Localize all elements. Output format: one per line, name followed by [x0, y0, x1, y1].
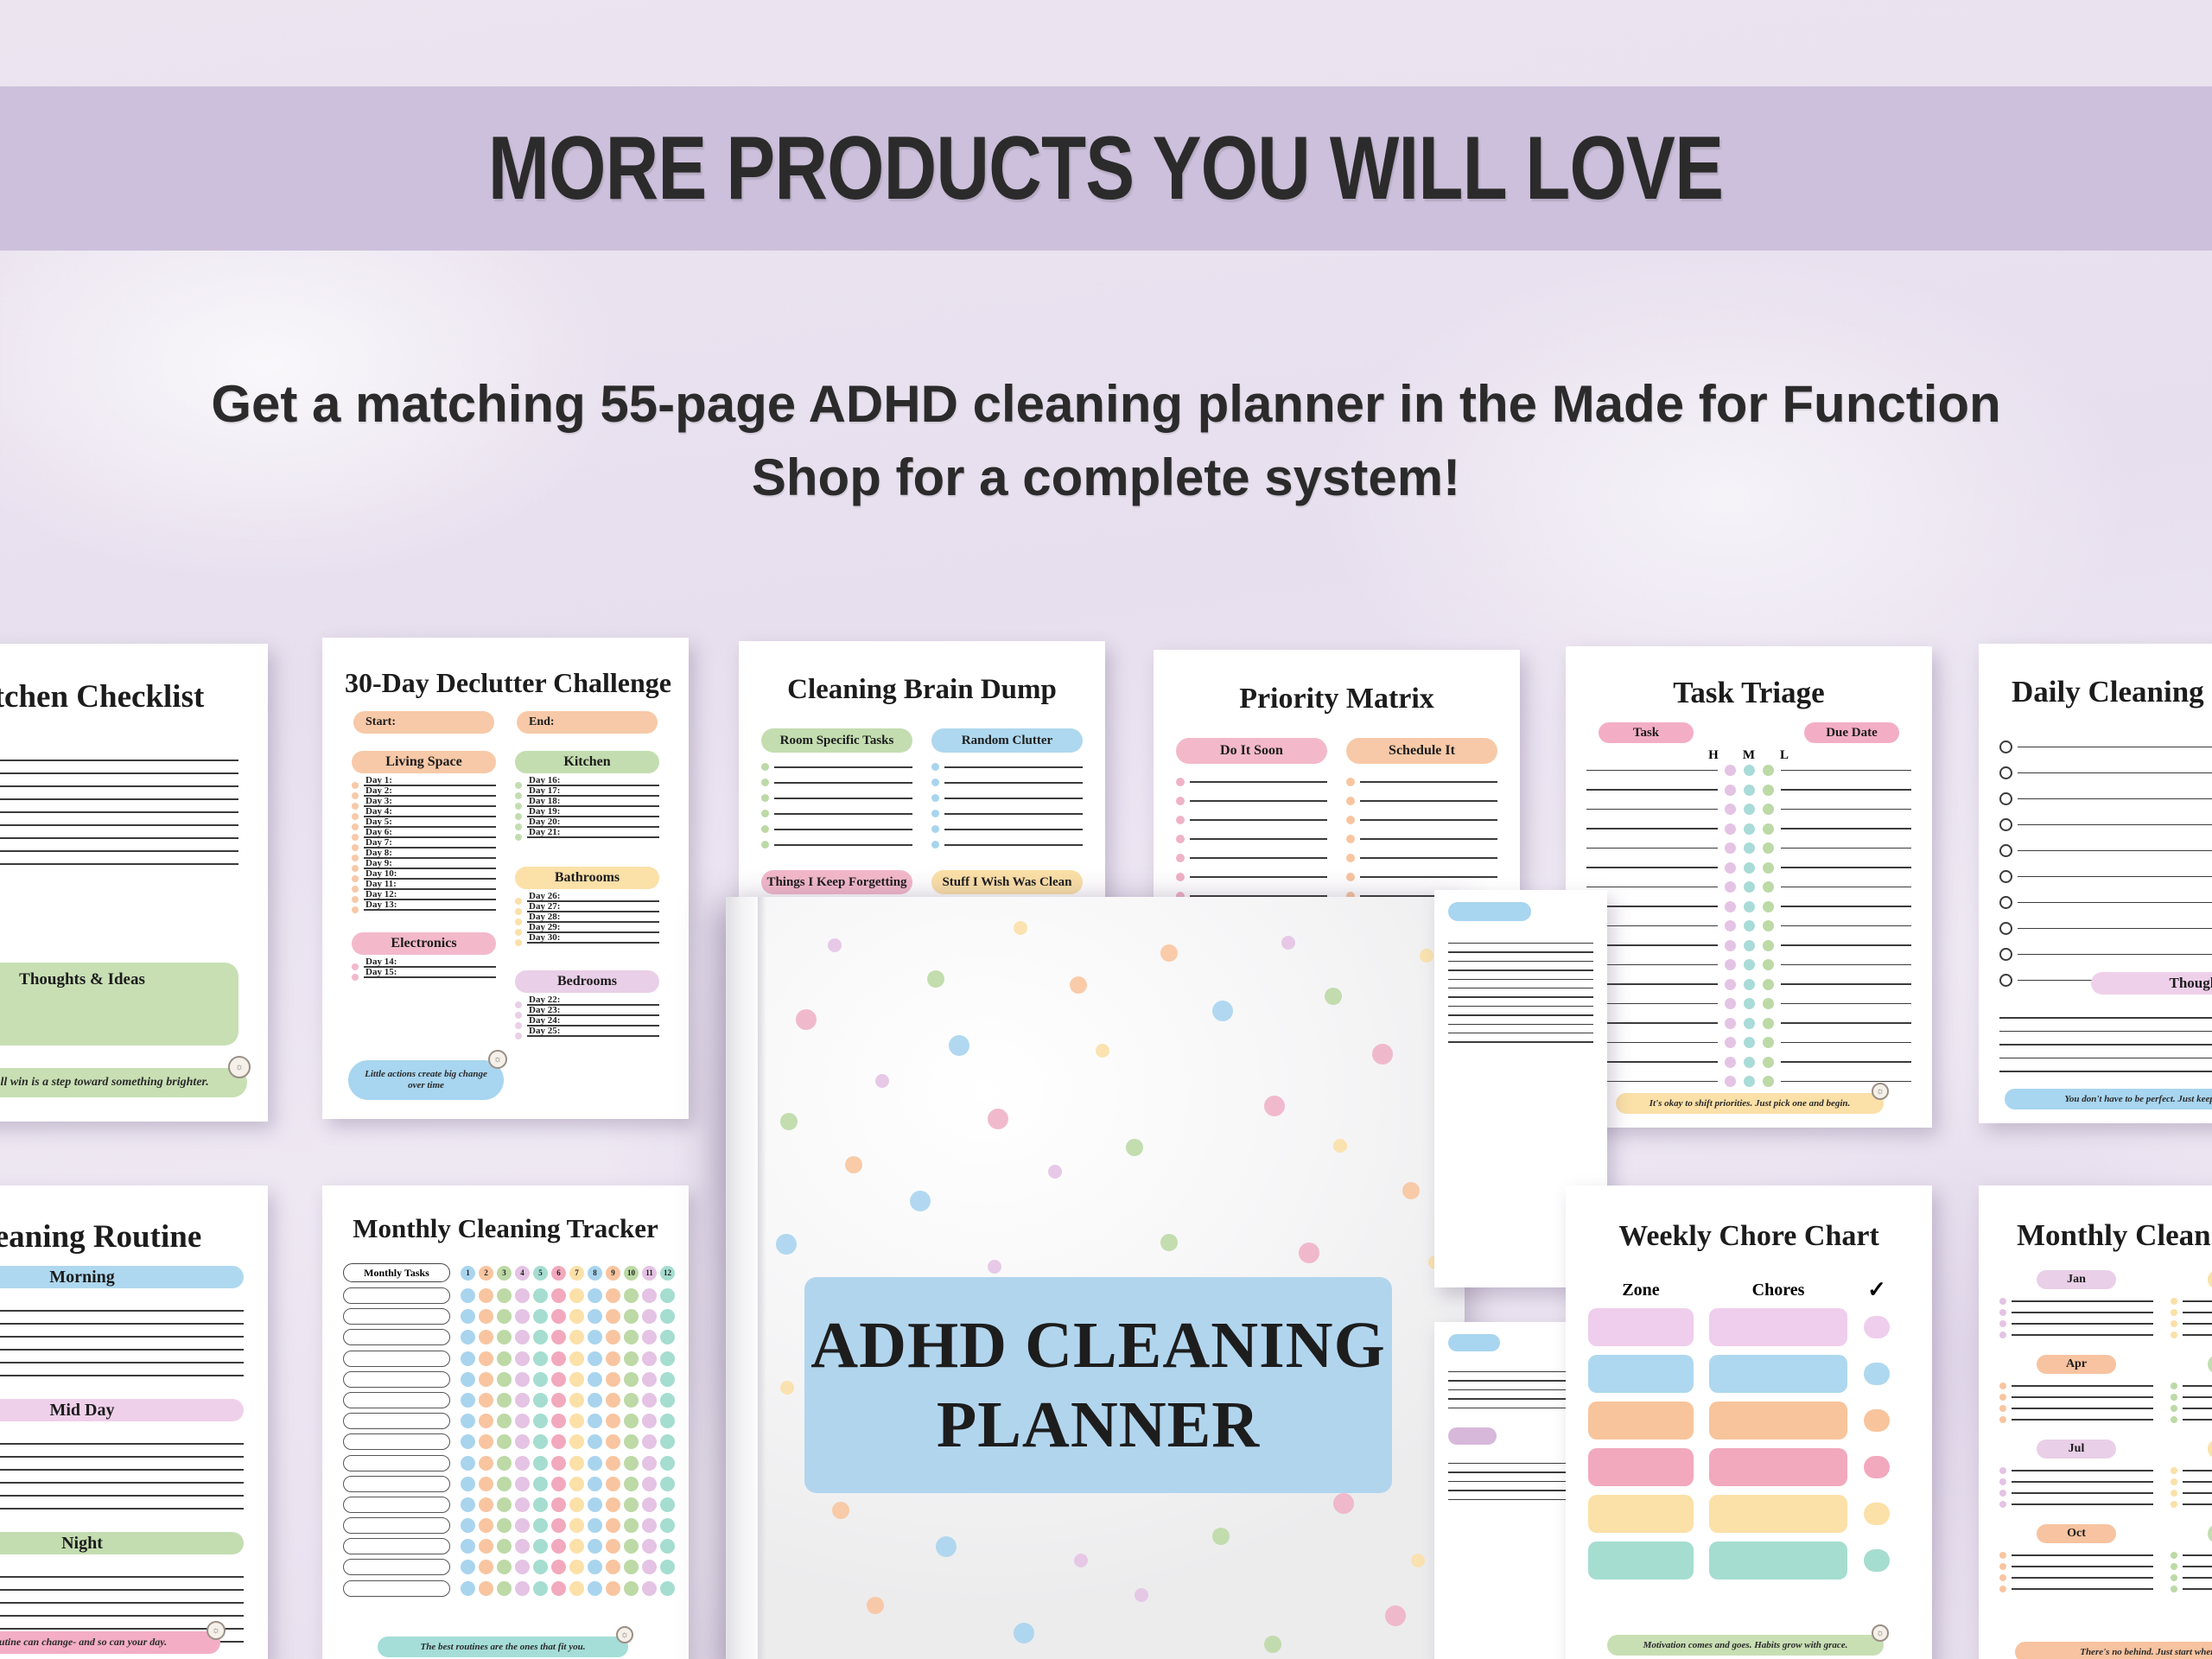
bullet-dot[interactable] — [1999, 1394, 2006, 1401]
bullet-dot[interactable] — [660, 1351, 675, 1366]
bullet-dot[interactable] — [642, 1581, 657, 1596]
bullet-dot[interactable] — [1725, 940, 1736, 951]
bullet-dot[interactable] — [660, 1518, 675, 1533]
declutter-start-pill[interactable]: Start: — [353, 711, 494, 734]
write-line[interactable] — [944, 813, 1083, 815]
bullet-dot[interactable] — [624, 1351, 639, 1366]
bullet-dot[interactable] — [2171, 1563, 2177, 1570]
task-input-pill[interactable] — [343, 1351, 450, 1367]
write-line[interactable] — [2183, 1492, 2212, 1493]
bullet-dot[interactable] — [352, 963, 359, 970]
task-triage-row[interactable] — [1586, 959, 1911, 970]
write-line[interactable] — [774, 813, 912, 815]
bullet-dot[interactable] — [461, 1393, 475, 1408]
write-line[interactable] — [2012, 1385, 2153, 1386]
bullet-dot[interactable] — [1744, 940, 1755, 951]
monthly-tracker-row[interactable] — [343, 1476, 668, 1492]
bullet-dot[interactable] — [569, 1414, 584, 1428]
chores-cell[interactable] — [1709, 1448, 1847, 1486]
write-line[interactable] — [1360, 876, 1497, 878]
bullet-dot[interactable] — [515, 1330, 530, 1344]
bullet-dot[interactable] — [551, 1372, 566, 1387]
bullet-dot[interactable] — [1999, 1382, 2006, 1389]
bullet-dot[interactable] — [624, 1477, 639, 1491]
bullet-dot[interactable] — [1744, 804, 1755, 815]
write-line[interactable] — [774, 844, 912, 846]
bullet-dot[interactable] — [642, 1288, 657, 1303]
bullet-dot[interactable] — [660, 1414, 675, 1428]
write-line[interactable] — [2183, 1323, 2212, 1324]
bullet-dot[interactable] — [1999, 1586, 2006, 1592]
write-line[interactable] — [1360, 819, 1497, 821]
bullet-dot[interactable] — [588, 1539, 602, 1554]
write-line[interactable] — [2012, 1554, 2153, 1555]
task-triage-row[interactable] — [1586, 765, 1911, 776]
bullet-dot[interactable] — [624, 1434, 639, 1449]
write-line[interactable] — [2012, 1566, 2153, 1567]
bullet-dot[interactable] — [761, 779, 769, 786]
chore-row[interactable] — [1588, 1541, 1910, 1580]
bullet-dot[interactable] — [479, 1518, 493, 1533]
bullet-dot[interactable] — [479, 1434, 493, 1449]
bullet-dot[interactable] — [1725, 1018, 1736, 1029]
bullet-dot[interactable] — [515, 1033, 522, 1039]
bullet-dot[interactable] — [1176, 797, 1185, 805]
bullet-dot[interactable] — [624, 1497, 639, 1512]
write-line[interactable] — [2183, 1408, 2212, 1408]
bullet-dot[interactable] — [515, 939, 522, 946]
bullet-dot[interactable] — [461, 1581, 475, 1596]
write-line[interactable] — [2183, 1481, 2212, 1482]
bullet-dot[interactable] — [497, 1288, 512, 1303]
task-triage-row[interactable] — [1586, 998, 1911, 1009]
bullet-dot[interactable] — [1999, 1490, 2006, 1497]
bullet-dot[interactable] — [642, 1309, 657, 1324]
write-line[interactable] — [1360, 781, 1497, 783]
bullet-dot[interactable] — [1725, 1057, 1736, 1068]
bullet-dot[interactable] — [1999, 1309, 2006, 1316]
bullet-dot[interactable] — [1346, 854, 1355, 862]
bullet-dot[interactable] — [588, 1288, 602, 1303]
bullet-dot[interactable] — [2171, 1574, 2177, 1581]
task-input-pill[interactable] — [343, 1476, 450, 1492]
bullet-dot[interactable] — [761, 841, 769, 849]
bullet-dot[interactable] — [642, 1393, 657, 1408]
task-triage-row[interactable] — [1586, 842, 1911, 854]
task-triage-row[interactable] — [1586, 920, 1911, 931]
page-declutter-challenge[interactable]: 30-Day Declutter Challenge Start: End: L… — [322, 638, 689, 1119]
bullet-dot[interactable] — [1176, 835, 1185, 843]
write-line[interactable] — [2012, 1334, 2153, 1335]
bullet-dot[interactable] — [660, 1581, 675, 1596]
bullet-dot[interactable] — [515, 918, 522, 925]
bullet-dot[interactable] — [660, 1330, 675, 1344]
monthly-tracker-row[interactable] — [343, 1580, 668, 1597]
bullet-dot[interactable] — [606, 1330, 620, 1344]
monthly-tracker-row[interactable] — [343, 1433, 668, 1450]
task-input-pill[interactable] — [343, 1580, 450, 1597]
bullet-dot[interactable] — [569, 1288, 584, 1303]
bullet-dot[interactable] — [533, 1497, 548, 1512]
write-line[interactable] — [2012, 1408, 2153, 1408]
bullet-dot[interactable] — [352, 855, 359, 861]
bullet-dot[interactable] — [352, 834, 359, 841]
bullet-dot[interactable] — [1725, 765, 1736, 776]
bullet-dot[interactable] — [761, 810, 769, 817]
bullet-dot[interactable] — [569, 1456, 584, 1471]
daily-cleaning-row[interactable] — [1999, 818, 2212, 831]
bullet-dot[interactable] — [660, 1288, 675, 1303]
bullet-dot[interactable] — [660, 1477, 675, 1491]
bullet-dot[interactable] — [1744, 901, 1755, 912]
write-line[interactable] — [2183, 1334, 2212, 1335]
bullet-dot[interactable] — [624, 1414, 639, 1428]
bullet-dot[interactable] — [515, 1001, 522, 1008]
monthly-tracker-row[interactable] — [343, 1538, 668, 1554]
page-monthly-clean[interactable]: Monthly Clean JanFebAprMayJulAugOctNov T… — [1979, 1185, 2212, 1659]
bullet-dot[interactable] — [588, 1456, 602, 1471]
bullet-dot[interactable] — [1346, 778, 1355, 786]
bullet-dot[interactable] — [551, 1497, 566, 1512]
bullet-dot[interactable] — [352, 875, 359, 882]
task-input-pill[interactable] — [343, 1433, 450, 1450]
bullet-dot[interactable] — [461, 1456, 475, 1471]
bullet-dot[interactable] — [2171, 1382, 2177, 1389]
bullet-dot[interactable] — [569, 1330, 584, 1344]
bullet-dot[interactable] — [2171, 1552, 2177, 1559]
bullet-dot[interactable] — [497, 1309, 512, 1324]
bullet-dot[interactable] — [515, 929, 522, 936]
bullet-dot[interactable] — [497, 1351, 512, 1366]
bullet-dot[interactable] — [569, 1393, 584, 1408]
bullet-dot[interactable] — [515, 1518, 530, 1533]
monthly-tracker-row[interactable] — [343, 1392, 668, 1408]
bullet-dot[interactable] — [931, 794, 939, 802]
check-cell[interactable] — [1864, 1316, 1890, 1338]
bullet-dot[interactable] — [1725, 804, 1736, 815]
check-cell[interactable] — [1864, 1456, 1890, 1478]
monthly-tracker-row[interactable] — [343, 1351, 668, 1367]
bullet-dot[interactable] — [479, 1581, 493, 1596]
write-line[interactable] — [0, 863, 238, 865]
bullet-dot[interactable] — [551, 1288, 566, 1303]
bullet-dot[interactable] — [515, 898, 522, 905]
bullet-dot[interactable] — [479, 1497, 493, 1512]
bullet-dot[interactable] — [569, 1434, 584, 1449]
page-weekly-chore-chart[interactable]: Weekly Chore Chart Zone Chores ✓ Motivat… — [1566, 1185, 1932, 1659]
task-input-pill[interactable] — [343, 1517, 450, 1534]
bullet-dot[interactable] — [533, 1372, 548, 1387]
bullet-dot[interactable] — [2171, 1405, 2177, 1412]
bullet-dot[interactable] — [497, 1414, 512, 1428]
bullet-dot[interactable] — [2171, 1298, 2177, 1305]
bullet-dot[interactable] — [551, 1539, 566, 1554]
bullet-dot[interactable] — [533, 1560, 548, 1574]
checkbox-circle[interactable] — [1999, 948, 2012, 961]
bullet-dot[interactable] — [1176, 854, 1185, 862]
bullet-dot[interactable] — [1725, 1076, 1736, 1087]
write-line[interactable] — [2012, 1481, 2153, 1482]
write-line[interactable] — [2012, 1470, 2153, 1471]
bullet-dot[interactable] — [569, 1372, 584, 1387]
write-line[interactable] — [0, 1375, 244, 1376]
bullet-dot[interactable] — [1763, 765, 1774, 776]
bullet-dot[interactable] — [624, 1330, 639, 1344]
checkbox-circle[interactable] — [1999, 844, 2012, 857]
bullet-dot[interactable] — [606, 1477, 620, 1491]
daily-cleaning-row[interactable] — [1999, 948, 2212, 961]
zone-cell[interactable] — [1588, 1448, 1694, 1486]
bullet-dot[interactable] — [606, 1351, 620, 1366]
bullet-dot[interactable] — [533, 1351, 548, 1366]
write-line[interactable] — [1190, 857, 1327, 859]
bullet-dot[interactable] — [515, 1560, 530, 1574]
task-input-pill[interactable] — [343, 1287, 450, 1304]
daily-cleaning-row[interactable] — [1999, 870, 2212, 883]
bullet-dot[interactable] — [1763, 862, 1774, 874]
bullet-dot[interactable] — [533, 1539, 548, 1554]
bullet-dot[interactable] — [551, 1434, 566, 1449]
bullet-dot[interactable] — [533, 1456, 548, 1471]
bullet-dot[interactable] — [660, 1560, 675, 1574]
write-line[interactable] — [2012, 1588, 2153, 1589]
bullet-dot[interactable] — [606, 1497, 620, 1512]
bullet-dot[interactable] — [1999, 1416, 2006, 1423]
bullet-dot[interactable] — [606, 1581, 620, 1596]
write-line[interactable] — [774, 766, 912, 768]
bullet-dot[interactable] — [569, 1309, 584, 1324]
bullet-dot[interactable] — [569, 1581, 584, 1596]
bullet-dot[interactable] — [352, 782, 359, 789]
bullet-dot[interactable] — [515, 792, 522, 799]
bullet-dot[interactable] — [1725, 842, 1736, 854]
bullet-dot[interactable] — [515, 1022, 522, 1029]
bullet-dot[interactable] — [533, 1309, 548, 1324]
bullet-dot[interactable] — [1744, 1037, 1755, 1048]
write-line[interactable] — [1190, 838, 1327, 840]
bullet-dot[interactable] — [479, 1414, 493, 1428]
bullet-dot[interactable] — [533, 1581, 548, 1596]
bullet-dot[interactable] — [761, 794, 769, 802]
page-monthly-tracker[interactable]: Monthly Cleaning Tracker Monthly Tasks12… — [322, 1185, 689, 1659]
bullet-dot[interactable] — [588, 1309, 602, 1324]
bullet-dot[interactable] — [1999, 1563, 2006, 1570]
write-line[interactable] — [1360, 800, 1497, 802]
bullet-dot[interactable] — [1744, 881, 1755, 893]
bullet-dot[interactable] — [624, 1372, 639, 1387]
bullet-dot[interactable] — [461, 1497, 475, 1512]
write-line[interactable] — [0, 1508, 244, 1510]
bullet-dot[interactable] — [1346, 873, 1355, 881]
zone-cell[interactable] — [1588, 1495, 1694, 1533]
write-line[interactable] — [944, 844, 1083, 846]
task-input-pill[interactable] — [343, 1392, 450, 1408]
bullet-dot[interactable] — [1999, 1478, 2006, 1485]
bullet-dot[interactable] — [2171, 1478, 2177, 1485]
bullet-dot[interactable] — [588, 1351, 602, 1366]
bullet-dot[interactable] — [1999, 1574, 2006, 1581]
bullet-dot[interactable] — [1744, 1018, 1755, 1029]
bullet-dot[interactable] — [660, 1539, 675, 1554]
write-line[interactable] — [2012, 1312, 2153, 1313]
bullet-dot[interactable] — [931, 763, 939, 771]
task-input-pill[interactable] — [343, 1371, 450, 1388]
bullet-dot[interactable] — [588, 1497, 602, 1512]
bullet-dot[interactable] — [479, 1309, 493, 1324]
bullet-dot[interactable] — [588, 1518, 602, 1533]
write-line[interactable] — [2183, 1503, 2212, 1504]
task-input-pill[interactable] — [343, 1497, 450, 1513]
bullet-dot[interactable] — [1763, 842, 1774, 854]
task-triage-row[interactable] — [1586, 823, 1911, 835]
bullet-dot[interactable] — [1725, 920, 1736, 931]
chores-cell[interactable] — [1709, 1541, 1847, 1580]
bullet-dot[interactable] — [515, 1456, 530, 1471]
write-line[interactable] — [2012, 1503, 2153, 1504]
bullet-dot[interactable] — [1725, 979, 1736, 990]
write-line[interactable] — [774, 798, 912, 799]
bullet-dot[interactable] — [533, 1414, 548, 1428]
task-triage-row[interactable] — [1586, 901, 1911, 912]
bullet-dot[interactable] — [2171, 1416, 2177, 1423]
bullet-dot[interactable] — [1763, 920, 1774, 931]
bullet-dot[interactable] — [515, 1477, 530, 1491]
write-line[interactable] — [2012, 1396, 2153, 1397]
bullet-dot[interactable] — [551, 1560, 566, 1574]
bullet-dot[interactable] — [551, 1477, 566, 1491]
bullet-dot[interactable] — [2171, 1309, 2177, 1316]
bullet-dot[interactable] — [1763, 998, 1774, 1009]
bullet-dot[interactable] — [1346, 835, 1355, 843]
task-input-pill[interactable] — [343, 1538, 450, 1554]
write-line[interactable] — [2012, 1300, 2153, 1301]
bullet-dot[interactable] — [497, 1477, 512, 1491]
checkbox-circle[interactable] — [1999, 896, 2012, 909]
bullet-dot[interactable] — [569, 1518, 584, 1533]
bullet-dot[interactable] — [624, 1288, 639, 1303]
bullet-dot[interactable] — [761, 825, 769, 833]
bullet-dot[interactable] — [352, 906, 359, 913]
bullet-dot[interactable] — [497, 1539, 512, 1554]
zone-cell[interactable] — [1588, 1402, 1694, 1440]
bullet-dot[interactable] — [1763, 901, 1774, 912]
bullet-dot[interactable] — [497, 1518, 512, 1533]
bullet-dot[interactable] — [606, 1434, 620, 1449]
bullet-dot[interactable] — [497, 1330, 512, 1344]
bullet-dot[interactable] — [515, 782, 522, 789]
check-cell[interactable] — [1864, 1409, 1890, 1432]
bullet-dot[interactable] — [515, 1309, 530, 1324]
bullet-dot[interactable] — [515, 1581, 530, 1596]
bullet-dot[interactable] — [761, 763, 769, 771]
bullet-dot[interactable] — [479, 1330, 493, 1344]
bullet-dot[interactable] — [461, 1351, 475, 1366]
bullet-dot[interactable] — [624, 1581, 639, 1596]
task-triage-row[interactable] — [1586, 1018, 1911, 1029]
bullet-dot[interactable] — [551, 1456, 566, 1471]
task-triage-row[interactable] — [1586, 1076, 1911, 1087]
kitchen-checklist-lines[interactable] — [0, 748, 238, 865]
checkbox-circle[interactable] — [1999, 818, 2012, 831]
bullet-dot[interactable] — [551, 1581, 566, 1596]
checkbox-circle[interactable] — [1999, 870, 2012, 883]
bullet-dot[interactable] — [1763, 959, 1774, 970]
bullet-dot[interactable] — [1744, 1076, 1755, 1087]
bullet-dot[interactable] — [352, 792, 359, 799]
bullet-dot[interactable] — [1744, 765, 1755, 776]
bullet-dot[interactable] — [606, 1372, 620, 1387]
task-input-pill[interactable] — [343, 1559, 450, 1575]
bullet-dot[interactable] — [606, 1539, 620, 1554]
write-line[interactable] — [2012, 1419, 2153, 1420]
write-line[interactable] — [2183, 1396, 2212, 1397]
bullet-dot[interactable] — [479, 1393, 493, 1408]
task-input-pill[interactable] — [343, 1308, 450, 1325]
write-line[interactable] — [944, 766, 1083, 768]
bullet-dot[interactable] — [660, 1434, 675, 1449]
bullet-dot[interactable] — [1725, 881, 1736, 893]
bullet-dot[interactable] — [1744, 862, 1755, 874]
bullet-dot[interactable] — [1725, 959, 1736, 970]
bullet-dot[interactable] — [642, 1372, 657, 1387]
bullet-dot[interactable] — [515, 813, 522, 820]
bullet-dot[interactable] — [1763, 1037, 1774, 1048]
bullet-dot[interactable] — [2171, 1332, 2177, 1338]
daily-cleaning-row[interactable] — [1999, 922, 2212, 935]
bullet-dot[interactable] — [497, 1581, 512, 1596]
chore-row[interactable] — [1588, 1495, 1910, 1533]
bullet-dot[interactable] — [642, 1456, 657, 1471]
bullet-dot[interactable] — [352, 896, 359, 903]
bullet-dot[interactable] — [2171, 1467, 2177, 1474]
write-line[interactable] — [1448, 1041, 1593, 1042]
bullet-dot[interactable] — [642, 1434, 657, 1449]
write-line[interactable] — [2183, 1385, 2212, 1386]
bullet-dot[interactable] — [352, 803, 359, 810]
chore-row[interactable] — [1588, 1355, 1910, 1393]
task-triage-row[interactable] — [1586, 940, 1911, 951]
bullet-dot[interactable] — [515, 1434, 530, 1449]
bullet-dot[interactable] — [1763, 804, 1774, 815]
bullet-dot[interactable] — [588, 1560, 602, 1574]
bullet-dot[interactable] — [1725, 862, 1736, 874]
bullet-dot[interactable] — [1763, 1076, 1774, 1087]
bullet-dot[interactable] — [1999, 1501, 2006, 1508]
chore-row[interactable] — [1588, 1308, 1910, 1346]
bullet-dot[interactable] — [642, 1351, 657, 1366]
bullet-dot[interactable] — [515, 1393, 530, 1408]
bullet-dot[interactable] — [642, 1539, 657, 1554]
checkbox-circle[interactable] — [1999, 792, 2012, 805]
bullet-dot[interactable] — [515, 1539, 530, 1554]
bullet-dot[interactable] — [1763, 1057, 1774, 1068]
write-line[interactable] — [944, 829, 1083, 830]
zone-cell[interactable] — [1588, 1541, 1694, 1580]
bullet-dot[interactable] — [660, 1309, 675, 1324]
write-line[interactable] — [944, 782, 1083, 784]
checkbox-circle[interactable] — [1999, 974, 2012, 987]
bullet-dot[interactable] — [533, 1330, 548, 1344]
bullet-dot[interactable] — [479, 1372, 493, 1387]
bullet-dot[interactable] — [660, 1497, 675, 1512]
checkbox-circle[interactable] — [1999, 766, 2012, 779]
bullet-dot[interactable] — [461, 1414, 475, 1428]
bullet-dot[interactable] — [515, 834, 522, 841]
write-line[interactable] — [2012, 1577, 2153, 1578]
page-daily-cleaning[interactable]: Daily Cleaning M Thoughts You don't have… — [1979, 644, 2212, 1123]
bullet-dot[interactable] — [1744, 959, 1755, 970]
bullet-dot[interactable] — [1999, 1332, 2006, 1338]
